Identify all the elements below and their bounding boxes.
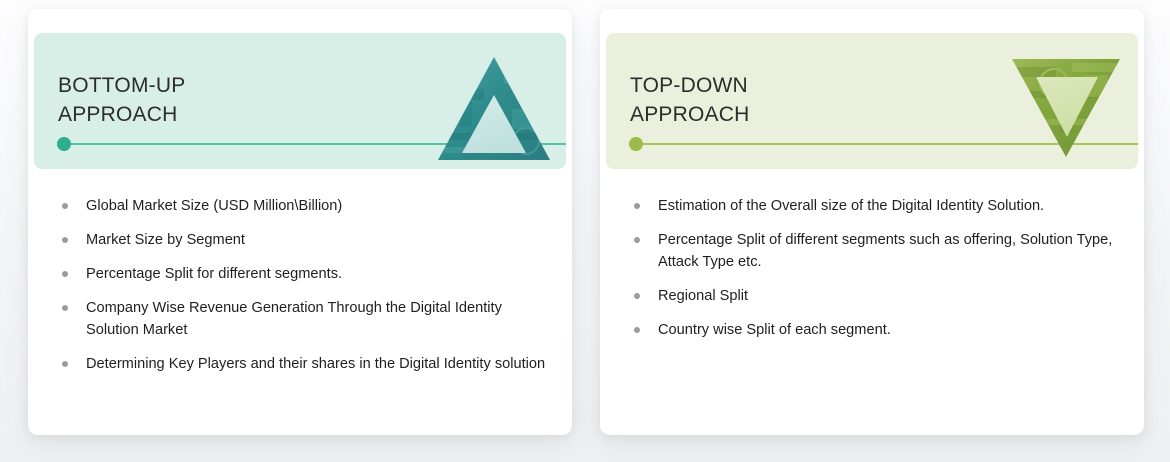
list-item: Regional Split — [624, 285, 1126, 307]
diagram-canvas: BOTTOM-UP APPROACH — [0, 0, 1170, 462]
list-item: Global Market Size (USD Million\Billion) — [52, 195, 554, 217]
list-item: Determining Key Players and their shares… — [52, 353, 554, 375]
bullet-list-top-down: Estimation of the Overall size of the Di… — [624, 195, 1126, 353]
approach-card-top-down: TOP-DOWN APPROACH — [600, 9, 1144, 435]
accent-dot — [629, 137, 643, 151]
accent-dot — [57, 137, 71, 151]
list-item: Company Wise Revenue Generation Through … — [52, 297, 554, 341]
list-item: Percentage Split of different segments s… — [624, 229, 1126, 273]
approach-card-bottom-up: BOTTOM-UP APPROACH — [28, 9, 572, 435]
card-title-top-down: TOP-DOWN APPROACH — [630, 71, 749, 129]
triangle-down-icon — [998, 37, 1134, 165]
list-item: Estimation of the Overall size of the Di… — [624, 195, 1126, 217]
list-item: Country wise Split of each segment. — [624, 319, 1126, 341]
bullet-list-bottom-up: Global Market Size (USD Million\Billion)… — [52, 195, 554, 387]
card-title-bottom-up: BOTTOM-UP APPROACH — [58, 71, 185, 129]
list-item: Market Size by Segment — [52, 229, 554, 251]
triangle-up-icon — [426, 37, 562, 165]
list-item: Percentage Split for different segments. — [52, 263, 554, 285]
card-header-top-down: TOP-DOWN APPROACH — [606, 33, 1138, 169]
card-header-bottom-up: BOTTOM-UP APPROACH — [34, 33, 566, 169]
